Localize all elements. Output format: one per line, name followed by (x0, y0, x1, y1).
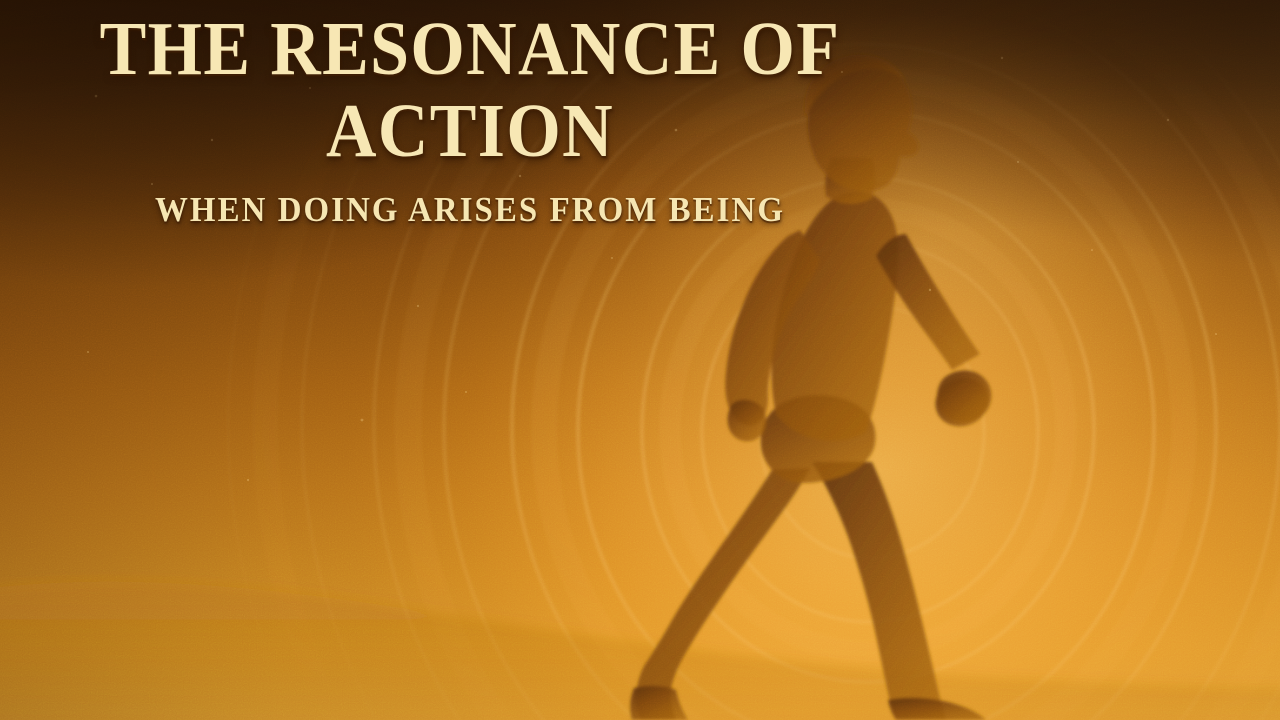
horizon-ridge (0, 500, 1280, 720)
title-block: THE RESONANCE OF ACTION WHEN DOING ARISE… (0, 8, 940, 230)
title-line-2: ACTION (38, 90, 903, 172)
subtitle: WHEN DOING ARISES FROM BEING (28, 190, 912, 230)
dust-specks (0, 0, 1280, 720)
poster-canvas: THE RESONANCE OF ACTION WHEN DOING ARISE… (0, 0, 1280, 720)
background-side-wash (0, 0, 1280, 720)
secondary-halo-glow (0, 0, 1280, 720)
film-grain-overlay (0, 0, 1280, 720)
title-line-1: THE RESONANCE OF (38, 8, 903, 90)
resonance-ripple-rings (0, 0, 1280, 720)
vignette-overlay (0, 0, 1280, 720)
walking-man-silhouette (0, 0, 1280, 720)
background-gradient (0, 0, 1280, 720)
sun-glow-radial (0, 0, 1280, 720)
